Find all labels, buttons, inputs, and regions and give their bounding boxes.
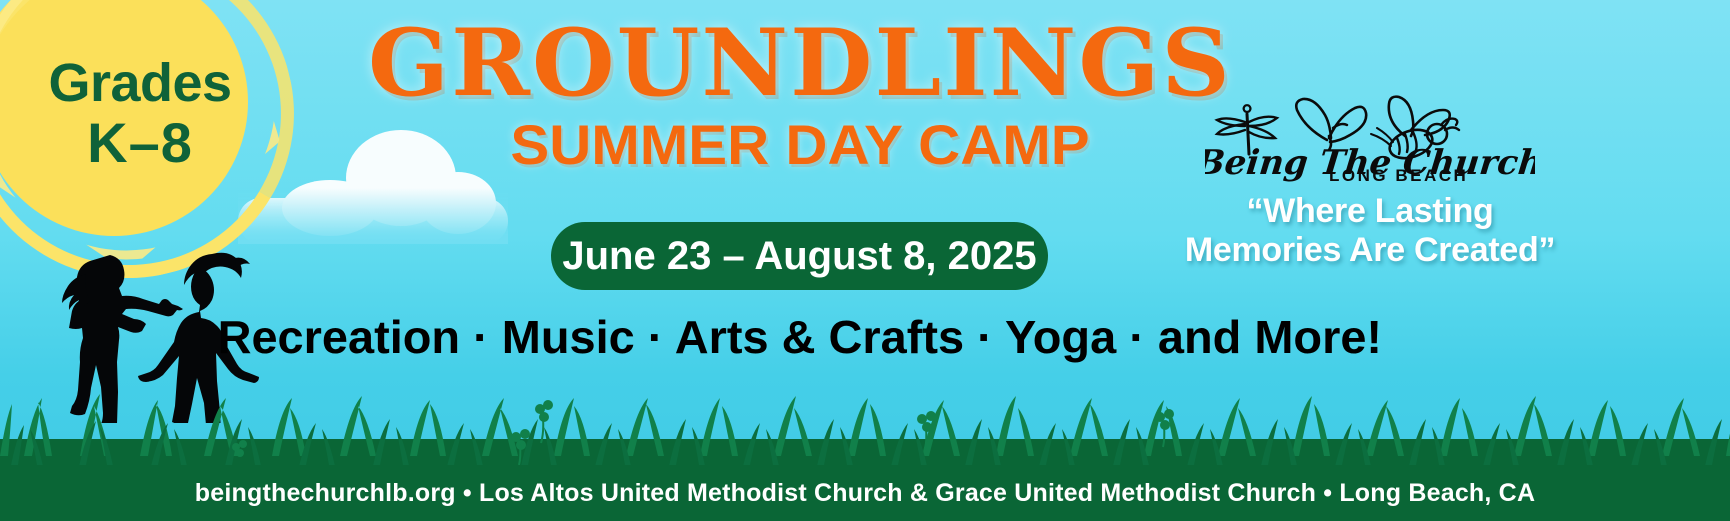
date-badge-text: June 23 – August 8, 2025 <box>562 234 1036 279</box>
activities-line: Recreation · Music · Arts & Crafts · Yog… <box>0 310 1600 364</box>
camp-banner: Grades K–8 GROUNDLINGS SUMMER DAY CAMP <box>0 0 1730 521</box>
grades-badge-line2: K–8 <box>87 116 193 171</box>
tagline-line1: “Where Lasting <box>1160 192 1580 231</box>
logo: Being The Church LONG BEACH <box>1205 78 1535 188</box>
tagline-line2: Memories Are Created” <box>1160 231 1580 270</box>
footer-text: beingthechurchlb.org • Los Altos United … <box>195 479 1535 508</box>
page-subtitle: SUMMER DAY CAMP <box>353 117 1247 173</box>
date-badge: June 23 – August 8, 2025 <box>551 222 1048 290</box>
activities-text: Recreation · Music · Arts & Crafts · Yog… <box>218 310 1382 364</box>
footer-bar: beingthechurchlb.org • Los Altos United … <box>0 465 1730 521</box>
logo-subtitle: LONG BEACH <box>1329 166 1468 186</box>
title-block: GROUNDLINGS SUMMER DAY CAMP <box>370 16 1230 173</box>
page-title: GROUNDLINGS <box>361 16 1238 109</box>
tagline: “Where Lasting Memories Are Created” <box>1160 192 1580 271</box>
grades-badge-line1: Grades <box>48 57 231 110</box>
